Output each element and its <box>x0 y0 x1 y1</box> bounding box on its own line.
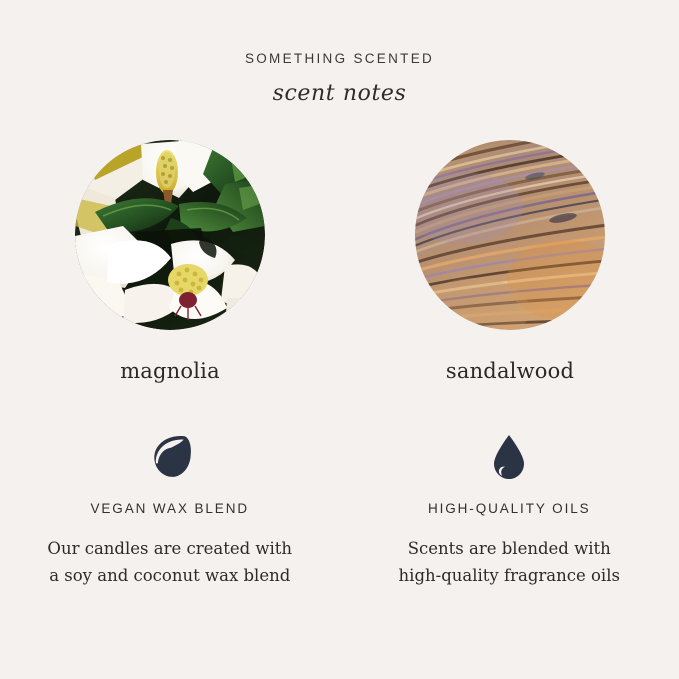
scent-notes-row: magnolia <box>0 140 679 382</box>
scent-item-magnolia: magnolia <box>0 140 339 382</box>
scent-label-magnolia: magnolia <box>120 361 220 382</box>
sandalwood-image-circle <box>415 140 605 330</box>
feature-body-vegan-wax-blend: Our candles are created with a soy and c… <box>47 535 292 589</box>
leaf-icon <box>148 432 192 482</box>
features-row: VEGAN WAX BLEND Our candles are created … <box>0 432 679 589</box>
magnolia-flower-photo <box>75 140 265 330</box>
feature-vegan-wax-blend: VEGAN WAX BLEND Our candles are created … <box>0 432 340 589</box>
sandalwood-grain-photo <box>415 140 605 330</box>
feature-title-high-quality-oils: HIGH-QUALITY OILS <box>428 502 591 516</box>
scent-label-sandalwood: sandalwood <box>446 361 574 382</box>
page-header: SOMETHING SCENTED scent notes <box>0 52 679 105</box>
magnolia-image-circle <box>75 140 265 330</box>
scent-item-sandalwood: sandalwood <box>339 140 679 382</box>
feature-high-quality-oils: HIGH-QUALITY OILS Scents are blended wit… <box>340 432 679 589</box>
eyebrow-heading: SOMETHING SCENTED <box>0 52 679 66</box>
feature-body-high-quality-oils: Scents are blended with high-quality fra… <box>399 535 620 589</box>
feature-title-vegan-wax-blend: VEGAN WAX BLEND <box>90 502 249 516</box>
page-title: scent notes <box>0 83 679 105</box>
scent-notes-page: SOMETHING SCENTED scent notes <box>0 0 679 679</box>
droplet-icon <box>491 432 527 482</box>
